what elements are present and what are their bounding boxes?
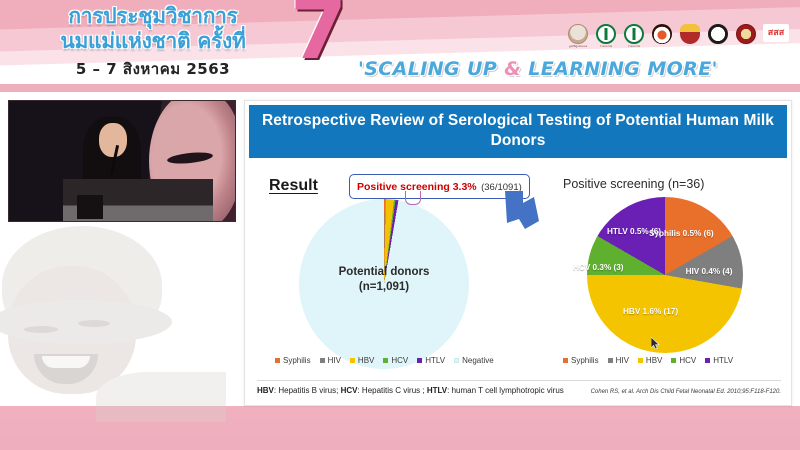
legend-swatch-hiv (320, 358, 325, 363)
logo-ministry-red-icon (734, 24, 758, 54)
legend-swatch-hcv (383, 358, 388, 363)
legend-item-hiv-right: HIV (608, 356, 629, 365)
legend-swatch-hbv (350, 358, 355, 363)
citation-text: Cohen RS, et al. Arch Dis Child Fetal Ne… (591, 389, 781, 395)
potential-donors-caption-line2: (n=1,091) (281, 280, 487, 295)
legend-positive-screening: Syphilis HIV HBV HCV HTLV (563, 356, 733, 365)
legend-item-hiv: HIV (320, 356, 341, 365)
logo-green-health-1-icon: กรมอนามัย (594, 24, 618, 54)
legend-label-hiv-right: HIV (616, 356, 629, 365)
header-bottom-rule (0, 84, 800, 92)
logo-green-health-2-caption: กรมอนามัย (628, 45, 641, 48)
legend-label-hbv: HBV (358, 356, 374, 365)
legend-swatch-syphilis (275, 358, 280, 363)
logo-foundation-seal-icon: มูลนิธิศูนย์นมแม่ (566, 24, 590, 54)
abbr-hcv-value: : Hepatitis C virus ; (357, 386, 426, 395)
abbreviations-text: HBV: Hepatitis B virus; HCV: Hepatitis C… (257, 386, 564, 395)
logo-ministry-black-mark (708, 24, 728, 44)
legend-label-syphilis: Syphilis (283, 356, 311, 365)
legend-item-htlv-right: HTLV (705, 356, 733, 365)
conference-header-banner: การประชุมวิชาการ นมแม่แห่งชาติ ครั้งที่ … (0, 0, 800, 92)
legend-label-hcv-right: HCV (679, 356, 696, 365)
positive-screening-chart-title: Positive screening (n=36) (563, 177, 704, 191)
legend-item-htlv: HTLV (417, 356, 445, 365)
mouse-cursor-icon (651, 337, 660, 349)
child-eye-right (78, 320, 110, 327)
blue-arrow-icon (503, 187, 541, 231)
legend-label-negative: Negative (462, 356, 494, 365)
callout-bracket (405, 191, 421, 205)
logo-green-health-2-icon: กรมอนามัย (622, 24, 646, 54)
smiling-child-watermark (0, 222, 232, 422)
positive-screening-pie-chart: Syphilis 0.5% (6) HIV 0.4% (4) HBV 1.6% … (565, 197, 765, 367)
conference-date: 5 – 7 สิงหาคม 2563 (18, 57, 288, 81)
legend-item-syphilis-right: Syphilis (563, 356, 599, 365)
legend-item-hbv: HBV (350, 356, 374, 365)
legend-label-hiv: HIV (328, 356, 341, 365)
slide-deck-page: การประชุมวิชาการ นมแม่แห่งชาติ ครั้งที่ … (0, 0, 800, 450)
logo-garuda-crest-icon (678, 24, 702, 54)
logo-green-health-1-caption: กรมอนามัย (600, 45, 613, 48)
logo-garuda-crest-mark (680, 24, 700, 44)
podium (63, 179, 213, 222)
speaker-face (99, 123, 127, 157)
legend-swatch-htlv (417, 358, 422, 363)
legend-label-htlv: HTLV (425, 356, 445, 365)
pie-slice-label-htlv: HTLV 0.5% (6) (607, 227, 653, 237)
thai-title-line-1: การประชุมวิชาการ (18, 4, 288, 29)
legend-item-negative: Negative (454, 356, 494, 365)
slide-title: Retrospective Review of Serological Test… (249, 105, 787, 158)
logo-ministry-black-icon (706, 24, 730, 54)
abbr-hbv-value: : Hepatitis B virus; (274, 386, 341, 395)
logo-royal-emblem-icon (650, 24, 674, 54)
logo-foundation-seal-caption: มูลนิธิศูนย์นมแม่ (569, 45, 587, 48)
logo-green-health-2-mark (624, 24, 644, 44)
slogan-ampersand: & (504, 58, 521, 80)
slogan-part-1: 'SCALING UP (358, 58, 504, 80)
logo-foundation-seal-mark (568, 24, 588, 44)
legend-label-syphilis-right: Syphilis (571, 356, 599, 365)
legend-label-hbv-right: HBV (646, 356, 662, 365)
legend-item-hbv-right: HBV (638, 356, 662, 365)
potential-donors-caption: Potential donors (n=1,091) (281, 265, 487, 295)
abbr-hbv-key: HBV (257, 386, 274, 395)
legend-swatch-hcv-right (671, 358, 676, 363)
pie-slice-label-hbv: HBV 1.6% (17) (623, 307, 677, 317)
legend-item-hcv: HCV (383, 356, 408, 365)
sponsor-logo-row: มูลนิธิศูนย์นมแม่ กรมอนามัย กรมอนามัย สส… (566, 24, 790, 54)
conference-slogan: 'SCALING UP & LEARNING MORE' (358, 58, 718, 80)
legend-item-hcv-right: HCV (671, 356, 696, 365)
legend-potential-donors: Syphilis HIV HBV HCV HTLV Negative (275, 356, 494, 365)
legend-item-syphilis: Syphilis (275, 356, 311, 365)
child-shirt (96, 372, 226, 422)
presentation-slide: Retrospective Review of Serological Test… (244, 100, 792, 406)
abbr-htlv-value: : human T cell lymphotropic virus (447, 386, 564, 395)
pie-slice-label-hcv: HCV 0.3% (3) (573, 263, 617, 273)
child-teeth (42, 356, 90, 368)
pie-slice-label-hiv: HIV 0.4% (4) (685, 267, 733, 277)
edition-number: 7 (290, 0, 347, 72)
conference-thai-title: การประชุมวิชาการ นมแม่แห่งชาติ ครั้งที่ … (18, 4, 288, 81)
abbr-htlv-key: HTLV (427, 386, 447, 395)
potential-donors-pie-chart: Potential donors (n=1,091) (281, 193, 487, 379)
legend-swatch-hiv-right (608, 358, 613, 363)
legend-swatch-syphilis-right (563, 358, 568, 363)
potential-donors-caption-line1: Potential donors (281, 265, 487, 280)
logo-royal-emblem-mark (652, 24, 672, 44)
podium-plate (77, 195, 103, 219)
logo-ministry-red-mark (736, 24, 756, 44)
thai-title-line-2: นมแม่แห่งชาติ ครั้งที่ (18, 29, 288, 54)
child-eye-left (24, 326, 58, 333)
legend-swatch-htlv-right (705, 358, 710, 363)
slide-footnote: HBV: Hepatitis B virus; HCV: Hepatitis C… (257, 380, 781, 395)
legend-swatch-hbv-right (638, 358, 643, 363)
abbr-hcv-key: HCV (341, 386, 358, 395)
legend-label-htlv-right: HTLV (713, 356, 733, 365)
logo-thaihealth-mark: สสส (763, 24, 789, 42)
logo-thaihealth-icon: สสส (762, 24, 790, 54)
slogan-part-2: LEARNING MORE' (521, 58, 718, 80)
legend-swatch-negative (454, 358, 459, 363)
legend-label-hcv: HCV (391, 356, 408, 365)
speaker-presentation-video[interactable] (8, 100, 236, 222)
logo-green-health-1-mark (596, 24, 616, 44)
